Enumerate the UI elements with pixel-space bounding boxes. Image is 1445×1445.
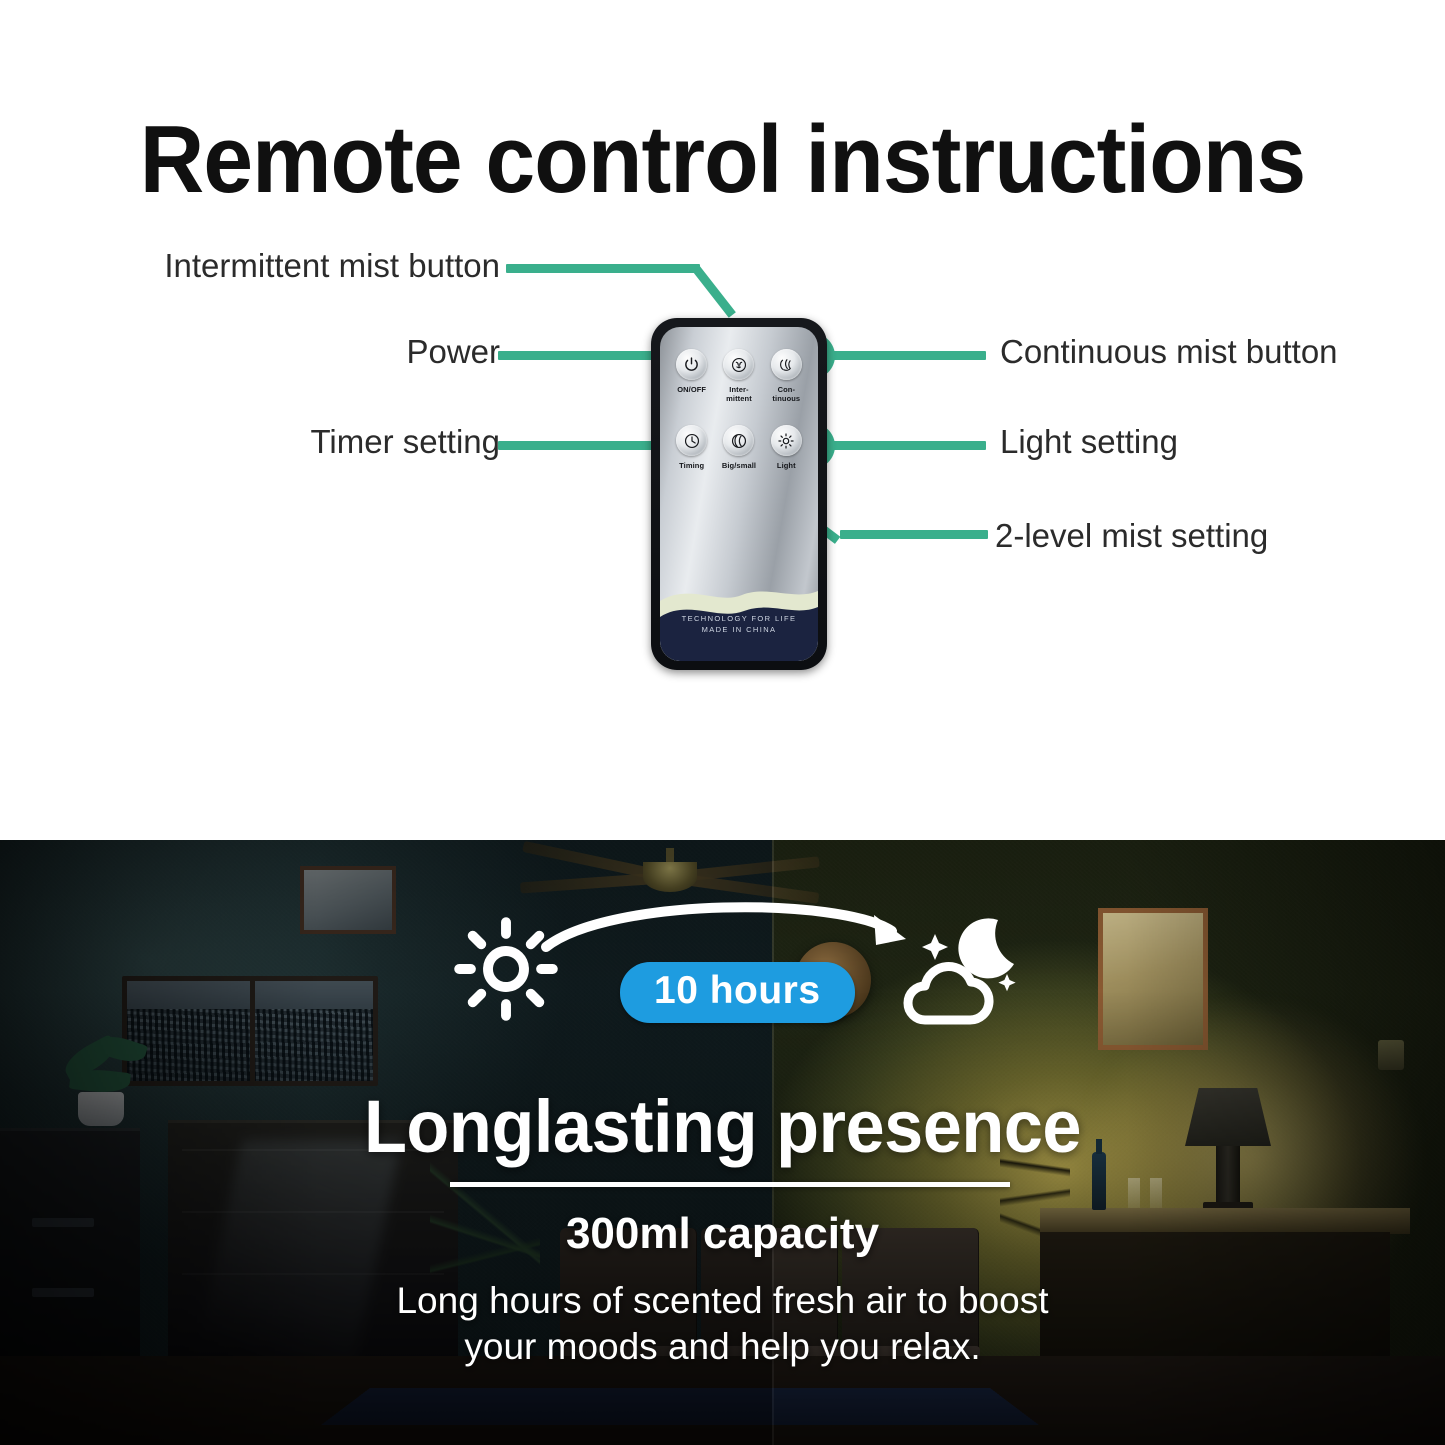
- continuous-button-label-2: tinuous: [764, 394, 808, 403]
- headline-divider: [450, 1182, 1010, 1187]
- remote-brand-line-1: TECHNOLOGY FOR LIFE: [660, 613, 818, 624]
- capacity-subhead: 300ml capacity: [0, 1208, 1445, 1260]
- intermittent-button-label-2: mittent: [717, 394, 761, 403]
- callout-label-power: Power: [110, 334, 500, 370]
- page-title: Remote control instructions: [51, 112, 1395, 208]
- remote-button-row-1: ON/OFF: [660, 349, 818, 403]
- remote-control-device: ON/OFF: [651, 318, 827, 670]
- leader-line-intermittent: [506, 264, 700, 273]
- remote-brand-text: TECHNOLOGY FOR LIFE MADE IN CHINA: [660, 613, 818, 635]
- big-small-button[interactable]: [723, 425, 754, 456]
- mist-burst-icon: [730, 356, 748, 374]
- overlay-layer: 10 hours Longlasting presence 300ml capa…: [0, 840, 1445, 1445]
- continuous-button-label-1: Con-: [764, 385, 808, 394]
- mist-level-icon: [730, 432, 748, 450]
- light-button-label: Light: [764, 461, 808, 470]
- remote-button-grid: ON/OFF: [660, 349, 818, 470]
- sun-icon: [777, 432, 795, 450]
- intermittent-button-label-1: Inter-: [717, 385, 761, 394]
- remote-button-cell-intermittent[interactable]: Inter- mittent: [717, 349, 761, 403]
- remote-button-cell-light[interactable]: Light: [764, 425, 808, 470]
- remote-button-row-2: Timing: [660, 425, 818, 470]
- power-button-label: ON/OFF: [670, 385, 714, 394]
- body-text-line-2: your moods and help you relax.: [0, 1324, 1445, 1370]
- remote-instructions-panel: Remote control instructions Intermittent…: [0, 0, 1445, 840]
- callout-label-continuous: Continuous mist button: [1000, 334, 1338, 370]
- callout-label-intermittent: Intermittent mist button: [110, 248, 500, 284]
- longlasting-presence-panel: 10 hours Longlasting presence 300ml capa…: [0, 840, 1445, 1445]
- callout-label-light: Light setting: [1000, 424, 1178, 460]
- continuous-button[interactable]: [771, 349, 802, 380]
- remote-button-cell-big-small[interactable]: Big/small: [717, 425, 761, 470]
- remote-button-cell-power[interactable]: ON/OFF: [670, 349, 714, 394]
- mist-stream-icon: [777, 356, 795, 374]
- big-small-button-label: Big/small: [717, 461, 761, 470]
- intermittent-button[interactable]: [723, 349, 754, 380]
- callout-label-timer: Timer setting: [110, 424, 500, 460]
- body-text-line-1: Long hours of scented fresh air to boost: [0, 1278, 1445, 1324]
- leader-line-two-level: [840, 530, 988, 539]
- timing-button[interactable]: [676, 425, 707, 456]
- leader-diagonal-intermittent: [692, 266, 735, 318]
- infographic-page: Remote control instructions Intermittent…: [0, 0, 1445, 1445]
- moon-cloud-icon: [895, 912, 1021, 1035]
- remote-button-cell-continuous[interactable]: Con- tinuous: [764, 349, 808, 403]
- timing-button-label: Timing: [670, 461, 714, 470]
- headline: Longlasting presence: [36, 1088, 1409, 1166]
- power-button[interactable]: [676, 349, 707, 380]
- remote-brand-line-2: MADE IN CHINA: [660, 624, 818, 635]
- light-button[interactable]: [771, 425, 802, 456]
- clock-icon: [683, 432, 701, 450]
- remote-faceplate: ON/OFF: [660, 327, 818, 661]
- duration-badge: 10 hours: [620, 962, 855, 1023]
- callout-label-two-level: 2-level mist setting: [995, 518, 1268, 554]
- power-icon: [683, 356, 700, 373]
- remote-button-cell-timing[interactable]: Timing: [670, 425, 714, 470]
- curved-arrow-icon: [540, 895, 920, 965]
